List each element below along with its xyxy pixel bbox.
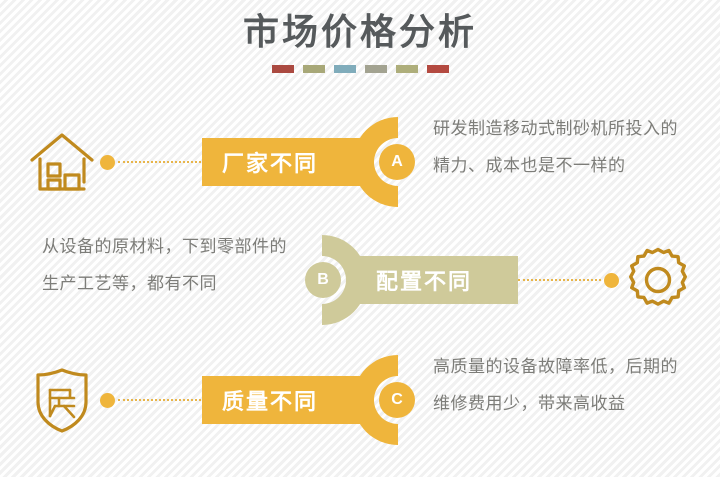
badge-letter-c: C xyxy=(391,392,403,408)
gear-icon xyxy=(622,244,694,316)
badge-b: B xyxy=(305,262,341,298)
paragraph-b: 从设备的原材料，下到零部件的生产工艺等，都有不同 xyxy=(42,228,287,302)
banner-b[interactable]: 配置不同 B xyxy=(286,232,518,328)
badge-letter-a: A xyxy=(391,154,403,170)
banner-label-c: 质量不同 xyxy=(222,384,318,416)
banner-bar-b: 配置不同 xyxy=(350,256,518,304)
connector-dot xyxy=(100,155,115,170)
title-dash-5 xyxy=(396,65,418,73)
connector-a xyxy=(100,154,204,170)
connector-c xyxy=(100,392,204,408)
title-dash-4 xyxy=(365,65,387,73)
connector-dot xyxy=(100,393,115,408)
badge-letter-b: B xyxy=(317,272,329,288)
badge-c: C xyxy=(379,382,415,418)
connector-line xyxy=(118,399,201,401)
connector-b xyxy=(515,272,619,288)
banner-label-a: 厂家不同 xyxy=(222,146,318,178)
connector-line xyxy=(118,161,201,163)
title-dash-1 xyxy=(272,65,294,73)
page-title: 市场价格分析 xyxy=(0,8,720,56)
title-block: 市场价格分析 xyxy=(0,8,720,73)
paragraph-a: 研发制造移动式制砂机所投入的精力、成本也是不一样的 xyxy=(433,110,678,184)
row-c: 质量不同 C 高质量的设备故障率低，后期的维修费用少，带来高收益 xyxy=(0,340,720,460)
row-a: 厂家不同 A 研发制造移动式制砂机所投入的精力、成本也是不一样的 xyxy=(0,102,720,222)
banner-label-b: 配置不同 xyxy=(376,264,472,296)
banner-c[interactable]: 质量不同 C xyxy=(202,352,434,448)
title-dash-3 xyxy=(334,65,356,73)
banner-a[interactable]: 厂家不同 A xyxy=(202,114,434,210)
title-dash-6 xyxy=(427,65,449,73)
paragraph-c: 高质量的设备故障率低，后期的维修费用少，带来高收益 xyxy=(433,348,678,422)
shield-quality-icon xyxy=(26,364,98,436)
connector-line xyxy=(518,279,601,281)
connector-dot xyxy=(604,273,619,288)
banner-bar-a: 厂家不同 xyxy=(202,138,370,186)
row-b: 从设备的原材料，下到零部件的生产工艺等，都有不同 配置不同 B xyxy=(0,220,720,340)
house-icon xyxy=(26,126,98,198)
title-dash-row xyxy=(0,65,720,73)
infographic-page: 市场价格分析 xyxy=(0,0,720,477)
banner-bar-c: 质量不同 xyxy=(202,376,370,424)
badge-a: A xyxy=(379,144,415,180)
title-dash-2 xyxy=(303,65,325,73)
